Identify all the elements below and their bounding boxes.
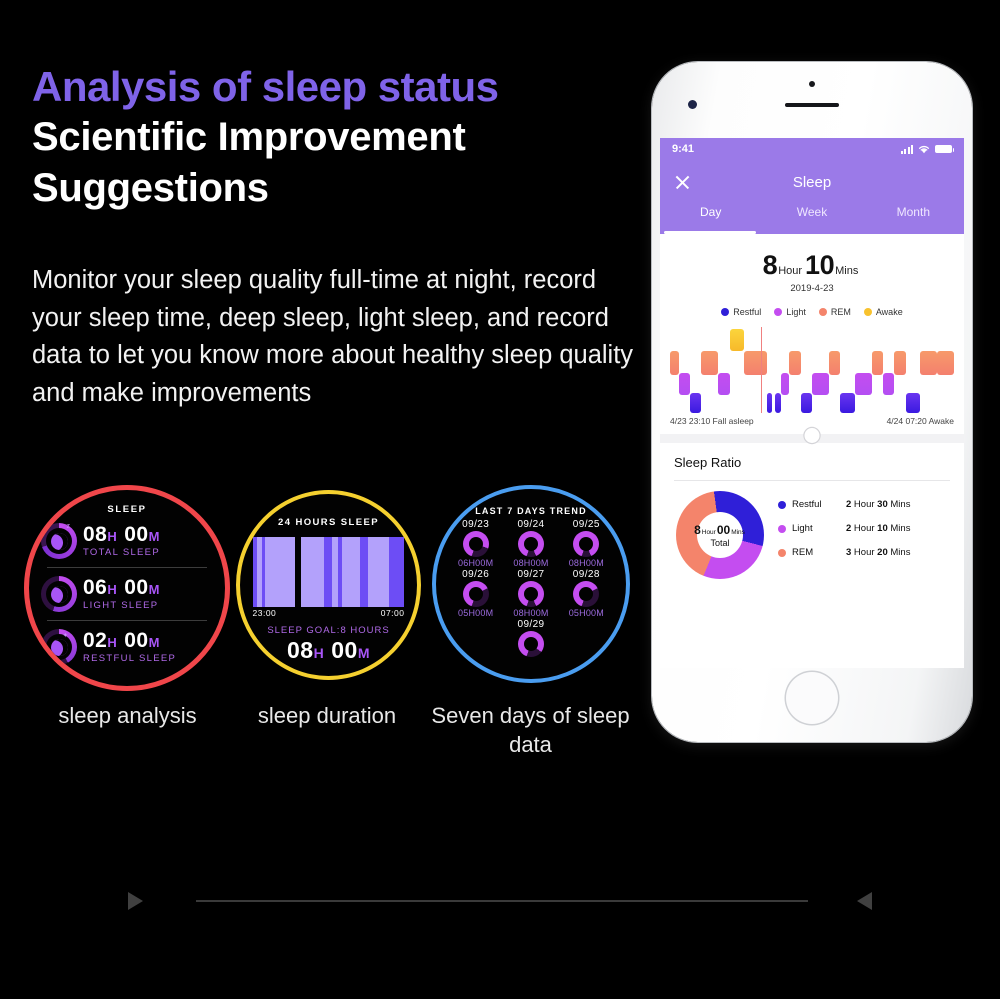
sleep-summary-date: 2019-4-23	[660, 283, 964, 294]
hypnogram-segment	[744, 351, 767, 375]
hypnogram-segment	[718, 373, 729, 395]
ring-hole	[524, 637, 538, 651]
ring-hole	[579, 587, 593, 601]
hypnogram-segment	[829, 351, 840, 375]
hypnogram-start-label: 4/23 23:10 Fall asleep	[670, 416, 754, 426]
moon-star-icon	[41, 629, 77, 665]
legend-item: Light	[774, 307, 806, 317]
duration-bar-segment	[389, 537, 404, 607]
watch2-duration-bars	[253, 537, 405, 607]
status-bar-time: 9:41	[672, 143, 694, 155]
donut-total-value: 8Hour00Mins	[694, 523, 746, 537]
body-copy: Monitor your sleep quality full-time at …	[32, 262, 652, 413]
watch-face-sleep-analysis: SLEEP 08H00M TOTAL SLEEP 06H00M	[24, 485, 230, 691]
signal-bars-icon	[901, 145, 914, 154]
ring-hole	[524, 587, 538, 601]
hypnogram-segment	[767, 393, 773, 413]
sleep-ratio-row: REM3 Hour 20 Mins	[778, 547, 950, 558]
headline-block: Analysis of sleep status Scientific Impr…	[32, 62, 632, 214]
legend-item: Restful	[721, 307, 761, 317]
sleep-ratio-section: Sleep Ratio 8Hour00Mins Total Restful2 H…	[660, 443, 964, 579]
donut-center: 8Hour00Mins Total	[697, 512, 743, 558]
caption-seven-days: Seven days of sleep data	[428, 702, 633, 759]
hypnogram-segment	[701, 351, 718, 375]
hypnogram-segment	[781, 373, 790, 395]
sleep-ratio-row: Light2 Hour 10 Mins	[778, 523, 950, 534]
watch2-goal-label: SLEEP GOAL:8 HOURS	[240, 625, 417, 636]
hypnogram-segment	[679, 373, 690, 395]
watch1-row-light: 06H00M LIGHT SLEEP	[29, 568, 225, 620]
moon-zzz-icon	[41, 523, 77, 559]
hypnogram-time-marker	[761, 327, 762, 413]
trend-day-value: 08H00M	[503, 558, 558, 568]
trend-day-ring	[518, 531, 544, 557]
ratio-color-dot	[778, 525, 786, 533]
legend-label: REM	[831, 307, 851, 317]
ratio-stage-value: 3 Hour 20 Mins	[846, 547, 910, 558]
trend-day-ring	[463, 531, 489, 557]
legend-color-dot	[721, 308, 729, 316]
phone-screen: 9:41 Sleep Day Week Month	[660, 138, 964, 668]
hypnogram-segment	[690, 393, 701, 413]
duration-bar-segment	[360, 537, 368, 607]
duration-bar-segment	[324, 537, 332, 607]
trend-day-date: 09/23	[448, 519, 503, 530]
sleep-ratio-title: Sleep Ratio	[674, 455, 950, 470]
hypnogram-segment	[775, 393, 781, 413]
sleep-summary: 8Hour10Mins 2019-4-23	[660, 234, 964, 298]
hypnogram-segment	[789, 351, 800, 375]
hypnogram-segment	[883, 373, 894, 395]
trend-day-cell: 09/2708H00M	[503, 569, 558, 618]
watch2-title: 24 HOURS SLEEP	[240, 517, 417, 528]
hypnogram-segment	[670, 351, 679, 375]
hypnogram-segment	[801, 393, 812, 413]
ratio-color-dot	[778, 501, 786, 509]
trend-day-date: 09/28	[559, 569, 614, 580]
duration-bar-segment	[368, 537, 389, 607]
trend-day-date: 09/24	[503, 519, 558, 530]
caption-sleep-analysis: sleep analysis	[20, 702, 235, 731]
section-divider	[660, 434, 964, 443]
trend-day-cell: 09/2306H00M	[448, 519, 503, 568]
watch1-total-label: TOTAL SLEEP	[83, 547, 160, 558]
trend-day-date: 09/26	[448, 569, 503, 580]
tab-bar: Day Week Month	[660, 204, 964, 234]
watch3-day-grid: 09/2306H00M09/2408H00M09/2508H00M09/2605…	[436, 516, 626, 618]
trend-day-value: 08H00M	[503, 608, 558, 618]
triangle-left-icon[interactable]	[857, 892, 872, 910]
triangle-right-icon[interactable]	[128, 892, 143, 910]
hypnogram-segment	[812, 373, 829, 395]
phone-mockup: 9:41 Sleep Day Week Month	[652, 62, 972, 742]
watch1-title: SLEEP	[29, 504, 225, 515]
trend-day-value: 06H00M	[448, 558, 503, 568]
headline-line-2: Scientific Improvement	[32, 112, 632, 163]
trend-day-value: 08H00M	[559, 558, 614, 568]
hypnogram-segment	[920, 351, 937, 375]
legend-item: REM	[819, 307, 851, 317]
legend-color-dot	[774, 308, 782, 316]
ratio-color-dot	[778, 549, 786, 557]
wifi-icon	[918, 144, 930, 154]
ratio-stage-name: REM	[792, 547, 846, 558]
front-camera-icon	[809, 81, 815, 87]
watch-face-seven-days: LAST 7 DAYS TREND 09/2306H00M09/2408H00M…	[432, 485, 630, 683]
trend-day-cell: 09/2605H00M	[448, 569, 503, 618]
divider	[674, 480, 950, 481]
proximity-sensor-icon	[688, 100, 697, 109]
hypnogram-axis-labels: 4/23 23:10 Fall asleep 4/24 07:20 Awake	[670, 416, 954, 426]
trend-day-ring	[573, 531, 599, 557]
watch1-row-restful: 02H00M RESTFUL SLEEP	[29, 621, 225, 673]
donut-total-label: Total	[710, 538, 729, 548]
tab-week[interactable]: Week	[761, 204, 862, 234]
sleep-ratio-row: Restful2 Hour 30 Mins	[778, 499, 950, 510]
trend-day-date: 09/27	[503, 569, 558, 580]
legend-color-dot	[819, 308, 827, 316]
battery-icon	[935, 145, 952, 153]
ratio-stage-name: Light	[792, 523, 846, 534]
trend-day-date: 09/29	[436, 619, 626, 630]
ratio-stage-value: 2 Hour 30 Mins	[846, 499, 910, 510]
hypnogram-end-label: 4/24 07:20 Awake	[887, 416, 954, 426]
trend-day-value: 05H00M	[448, 608, 503, 618]
watch3-last-day: 09/29	[436, 619, 626, 657]
watch2-time-labels: 23:00 07:00	[253, 608, 405, 618]
legend-label: Light	[786, 307, 806, 317]
trend-day-ring	[518, 581, 544, 607]
watch2-start-time: 23:00	[253, 608, 277, 618]
hypnogram-segment	[872, 351, 883, 375]
trend-day-cell: 09/29	[436, 619, 626, 657]
legend-label: Awake	[876, 307, 903, 317]
legend-item: Awake	[864, 307, 903, 317]
sleep-ratio-donut: 8Hour00Mins Total	[676, 491, 764, 579]
tab-day[interactable]: Day	[660, 204, 761, 234]
hypnogram-chart	[670, 327, 954, 413]
tab-active-indicator	[664, 231, 756, 234]
ratio-stage-name: Restful	[792, 499, 846, 510]
watch1-restful-value: 02H00M	[83, 630, 176, 652]
trend-day-date: 09/25	[559, 519, 614, 530]
hypnogram-segment	[894, 351, 905, 375]
trend-day-cell: 09/2408H00M	[503, 519, 558, 568]
trend-day-cell: 09/2805H00M	[559, 569, 614, 618]
moon-icon	[41, 576, 77, 612]
watch-face-sleep-duration: 24 HOURS SLEEP 23:00 07:00 SLEEP GOAL:8 …	[236, 490, 421, 680]
ring-hole	[469, 537, 483, 551]
ratio-stage-value: 2 Hour 10 Mins	[846, 523, 910, 534]
sleep-ratio-body: 8Hour00Mins Total Restful2 Hour 30 MinsL…	[674, 491, 950, 579]
sleep-summary-value: 8Hour10Mins	[660, 250, 964, 281]
hypnogram-legend: RestfulLightREMAwake	[660, 307, 964, 317]
bottom-divider-line	[196, 900, 808, 902]
page-title: Sleep	[793, 174, 831, 191]
status-bar: 9:41	[660, 138, 964, 160]
tab-month[interactable]: Month	[863, 204, 964, 234]
watch3-title: LAST 7 DAYS TREND	[436, 506, 626, 516]
status-bar-icons	[901, 144, 953, 154]
trend-day-ring	[573, 581, 599, 607]
home-button[interactable]	[786, 672, 838, 724]
legend-color-dot	[864, 308, 872, 316]
ring-hole	[469, 587, 483, 601]
scroll-handle[interactable]	[805, 428, 820, 443]
watch1-restful-label: RESTFUL SLEEP	[83, 653, 176, 664]
duration-bar-segment	[342, 537, 360, 607]
trend-day-ring	[463, 581, 489, 607]
trend-day-value: 05H00M	[559, 608, 614, 618]
close-icon[interactable]	[674, 174, 691, 191]
earpiece-speaker	[785, 103, 839, 107]
trend-day-ring	[518, 631, 544, 657]
bottom-bar	[0, 880, 1000, 920]
hypnogram-segment	[906, 393, 920, 413]
duration-bar-segment	[301, 537, 324, 607]
hypnogram-segment	[730, 329, 744, 351]
nav-bar: Sleep	[660, 160, 964, 204]
caption-sleep-duration: sleep duration	[232, 702, 422, 731]
hypnogram-segment	[937, 351, 954, 375]
watch1-light-value: 06H00M	[83, 577, 160, 599]
watch2-end-time: 07:00	[381, 608, 405, 618]
watch2-total-value: 08H00M	[240, 637, 417, 664]
trend-day-cell: 09/2508H00M	[559, 519, 614, 568]
legend-label: Restful	[733, 307, 761, 317]
duration-bar-segment	[265, 537, 295, 607]
hypnogram-segment	[855, 373, 872, 395]
ring-hole	[579, 537, 593, 551]
headline-accent: Analysis of sleep status	[32, 62, 632, 112]
headline-line-3: Suggestions	[32, 163, 632, 214]
watch1-light-label: LIGHT SLEEP	[83, 600, 160, 611]
hypnogram-segment	[840, 393, 854, 413]
watch1-total-value: 08H00M	[83, 524, 160, 546]
sleep-ratio-list: Restful2 Hour 30 MinsLight2 Hour 10 Mins…	[778, 499, 950, 571]
watch1-row-total: 08H00M TOTAL SLEEP	[29, 515, 225, 567]
promo-page: Analysis of sleep status Scientific Impr…	[0, 0, 1000, 999]
ring-hole	[524, 537, 538, 551]
